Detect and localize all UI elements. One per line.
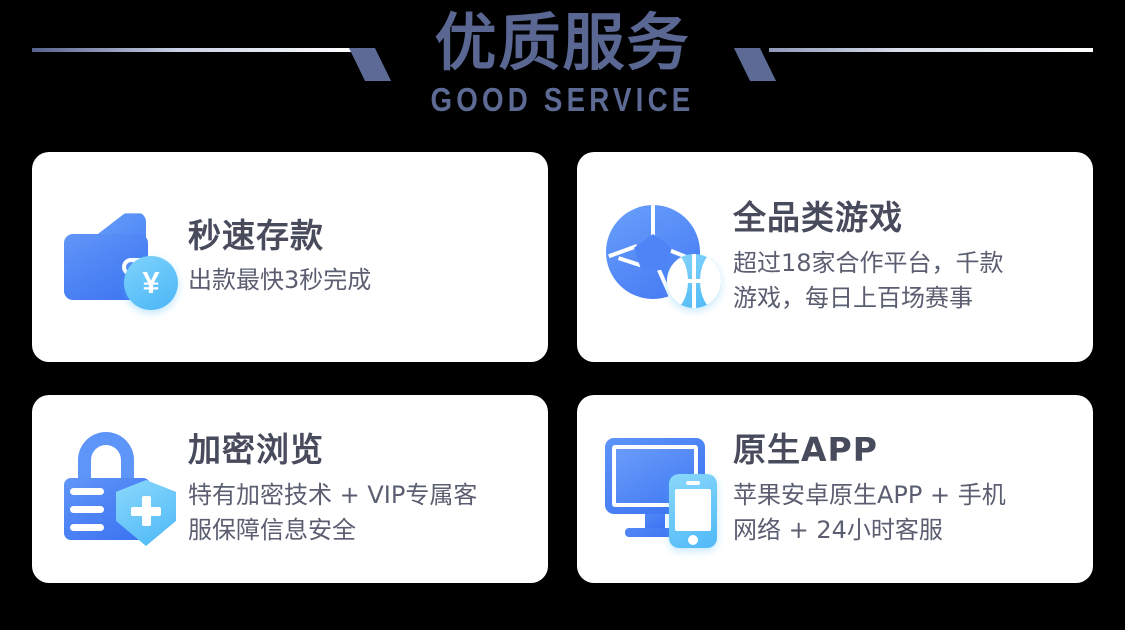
card-title: 加密浏览 bbox=[188, 430, 534, 470]
card-subtitle: 苹果安卓原生APP + 手机 网络 + 24小时客服 bbox=[733, 478, 1079, 548]
card-subtitle-line: 网络 + 24小时客服 bbox=[733, 513, 1079, 548]
page-header: 优质服务 GOOD SERVICE bbox=[0, 0, 1125, 145]
lock-shield-icon bbox=[56, 428, 178, 550]
feature-card-grid: ¥ 秒速存款 出款最快3秒完成 bbox=[32, 152, 1093, 583]
card-title: 原生APP bbox=[733, 430, 1079, 470]
card-title: 秒速存款 bbox=[188, 216, 534, 256]
card-subtitle: 特有加密技术 + VIP专属客 服保障信息安全 bbox=[188, 478, 534, 548]
yuan-coin-icon: ¥ bbox=[124, 256, 178, 310]
feature-card-native-app[interactable]: 原生APP 苹果安卓原生APP + 手机 网络 + 24小时客服 bbox=[577, 395, 1093, 583]
feature-card-deposit[interactable]: ¥ 秒速存款 出款最快3秒完成 bbox=[32, 152, 548, 362]
card-subtitle-line: 服保障信息安全 bbox=[188, 513, 534, 548]
card-title: 全品类游戏 bbox=[733, 198, 1079, 238]
card-subtitle-line: 超过18家合作平台，千款 bbox=[733, 246, 1079, 281]
wallet-coin-icon: ¥ bbox=[56, 196, 178, 318]
feature-card-text: 秒速存款 出款最快3秒完成 bbox=[178, 216, 534, 298]
monitor-phone-icon bbox=[601, 428, 723, 550]
phone-icon bbox=[669, 474, 717, 548]
card-subtitle-line: 苹果安卓原生APP + 手机 bbox=[733, 478, 1079, 513]
yuan-symbol: ¥ bbox=[142, 267, 159, 298]
card-subtitle-line: 特有加密技术 + VIP专属客 bbox=[188, 478, 534, 513]
soccer-basketball-icon bbox=[601, 196, 723, 318]
card-subtitle-line: 出款最快3秒完成 bbox=[188, 263, 534, 298]
basketball-icon bbox=[667, 254, 721, 308]
feature-card-games[interactable]: 全品类游戏 超过18家合作平台，千款 游戏，每日上百场赛事 bbox=[577, 152, 1093, 362]
page-title: 优质服务 GOOD SERVICE bbox=[0, 10, 1125, 119]
card-subtitle: 出款最快3秒完成 bbox=[188, 263, 534, 298]
cross-icon bbox=[131, 496, 161, 526]
page-title-en: GOOD SERVICE bbox=[90, 81, 1035, 119]
feature-card-text: 全品类游戏 超过18家合作平台，千款 游戏，每日上百场赛事 bbox=[723, 198, 1079, 315]
feature-card-text: 原生APP 苹果安卓原生APP + 手机 网络 + 24小时客服 bbox=[723, 430, 1079, 547]
feature-card-text: 加密浏览 特有加密技术 + VIP专属客 服保障信息安全 bbox=[178, 430, 534, 547]
feature-card-encryption[interactable]: 加密浏览 特有加密技术 + VIP专属客 服保障信息安全 bbox=[32, 395, 548, 583]
page-title-cn: 优质服务 bbox=[0, 10, 1125, 77]
card-subtitle-line: 游戏，每日上百场赛事 bbox=[733, 281, 1079, 316]
card-subtitle: 超过18家合作平台，千款 游戏，每日上百场赛事 bbox=[733, 246, 1079, 316]
